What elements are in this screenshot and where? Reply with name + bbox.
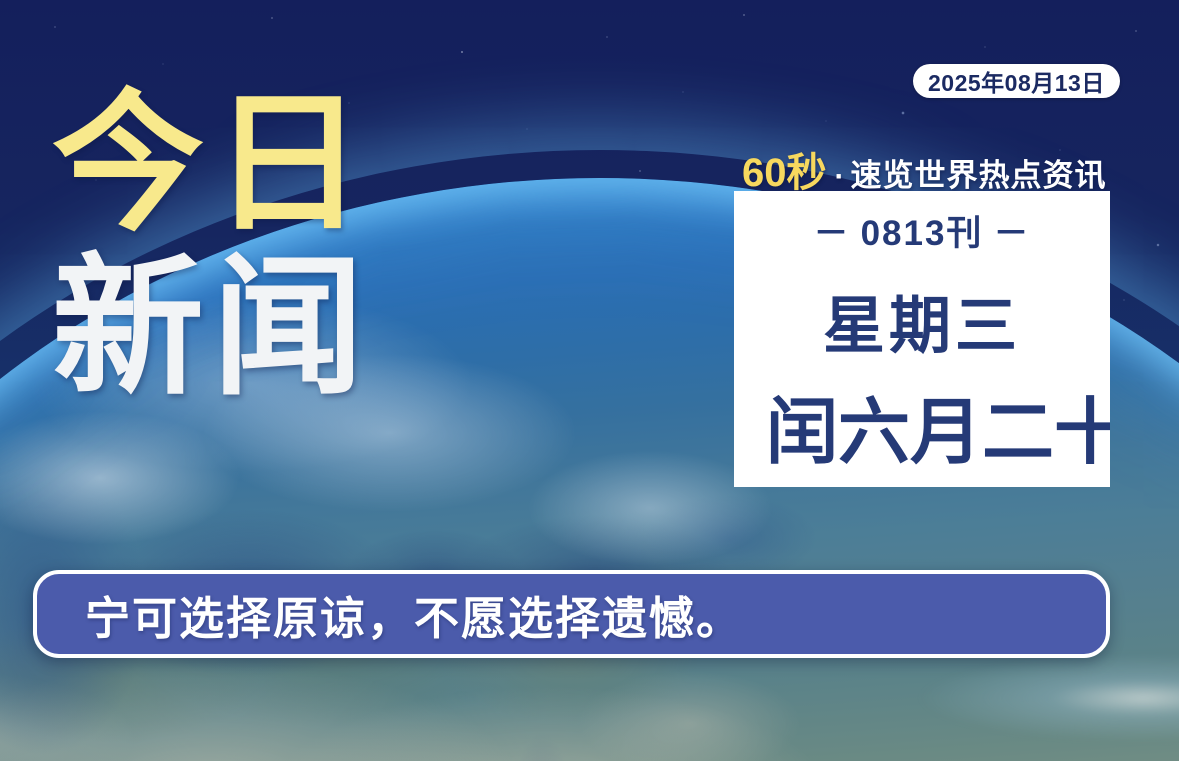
issue-number: 0813刊	[861, 214, 984, 253]
tagline-description: 速览世界热点资讯	[851, 150, 1107, 195]
lens-flare-glare	[909, 653, 1179, 743]
quote-text: 宁可选择原谅，不愿选择遗憾。	[85, 582, 743, 647]
tagline: 60秒 · 速览世界热点资讯	[742, 140, 1107, 198]
poster-canvas: 今日 新闻 2025年08月13日 60秒 · 速览世界热点资讯 －0813刊－…	[0, 0, 1179, 761]
page-title-line-1: 今日	[52, 92, 372, 236]
date-info-card-body: －0813刊－ 星期三 闰六月二十	[734, 191, 1110, 487]
lunar-date-label: 闰六月二十	[734, 373, 1110, 478]
date-info-card: －0813刊－ 星期三 闰六月二十	[734, 191, 1110, 487]
issue-line: －0813刊－	[734, 205, 1110, 256]
weekday-label: 星期三	[734, 275, 1110, 365]
page-title: 今日 新闻	[52, 92, 372, 401]
date-badge-label: 2025年08月13日	[928, 64, 1105, 98]
tagline-separator-dot: ·	[835, 160, 845, 194]
issue-dash-left: －	[814, 205, 851, 256]
page-title-line-2: 新闻	[52, 256, 372, 400]
date-badge: 2025年08月13日	[913, 64, 1120, 98]
issue-dash-right: －	[993, 205, 1030, 256]
quote-banner: 宁可选择原谅，不愿选择遗憾。	[33, 570, 1110, 658]
tagline-seconds: 60秒	[742, 140, 827, 198]
